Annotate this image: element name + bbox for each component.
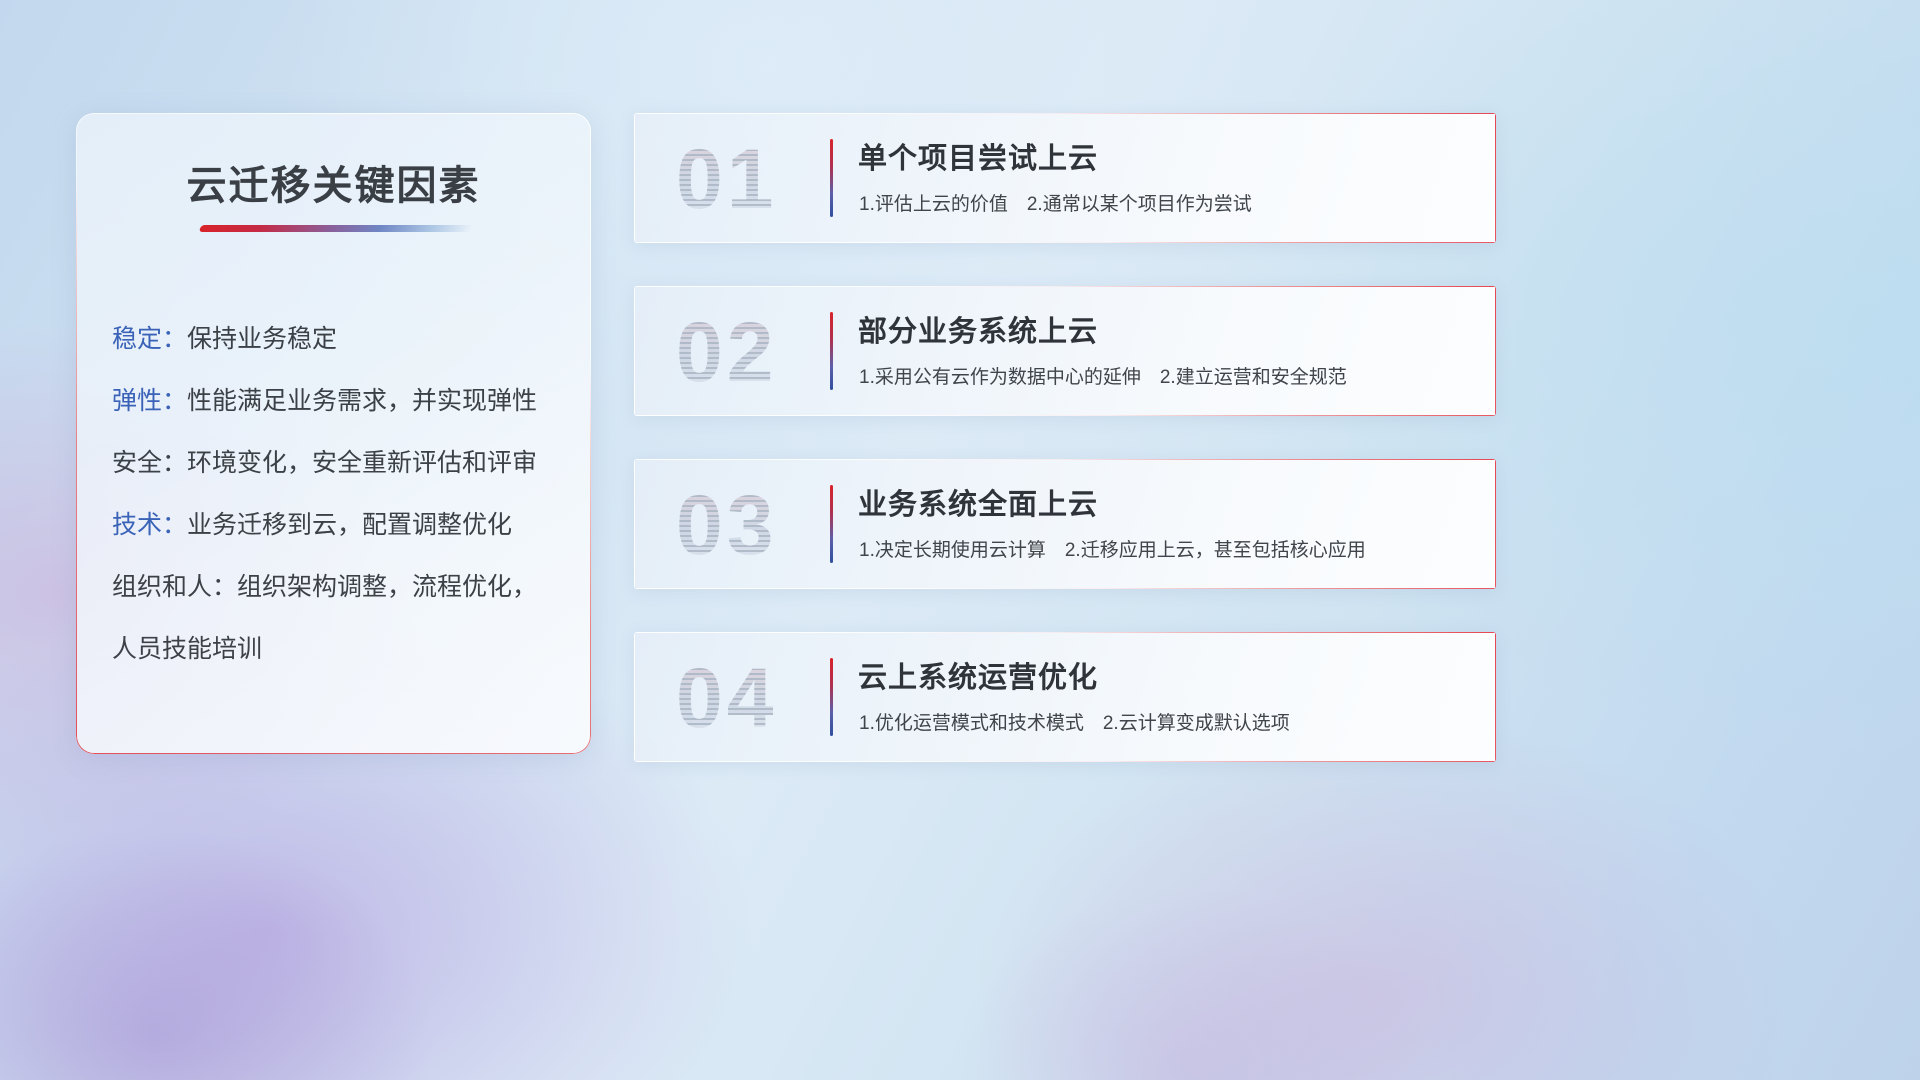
stage-number: 03 xyxy=(676,475,826,575)
factor-label: 技术： xyxy=(112,511,187,539)
stage-number: 01 xyxy=(676,129,826,229)
factor-label: 组织和人： xyxy=(112,573,237,601)
factor-text: 业务迁移到云，配置调整优化 xyxy=(187,511,512,539)
factor-label: 稳定： xyxy=(112,325,187,353)
key-factors-panel: 云迁移关键因素 稳定：保持业务稳定 弹性：性能满足业务需求，并实现弹性 安全：环… xyxy=(76,113,591,754)
stage-description: 1.优化运营模式和技术模式 2.云计算变成默认选项 xyxy=(859,708,1290,735)
factor-text: 人员技能培训 xyxy=(112,635,262,663)
factor-label: 安全： xyxy=(112,449,187,477)
accent-bar xyxy=(830,139,833,217)
stage-card-list: 01 单个项目尝试上云 1.评估上云的价值 2.通常以某个项目作为尝试 02 部… xyxy=(634,113,1496,805)
factor-text: 环境变化，安全重新评估和评审 xyxy=(187,449,537,477)
page-title: 云迁移关键因素 xyxy=(76,153,591,211)
factor-text: 性能满足业务需求，并实现弹性 xyxy=(187,387,537,415)
stage-title: 部分业务系统上云 xyxy=(858,308,1098,350)
stage-title: 云上系统运营优化 xyxy=(858,654,1098,696)
list-item: 弹性：性能满足业务需求，并实现弹性 xyxy=(112,370,573,432)
stage-card-02[interactable]: 02 部分业务系统上云 1.采用公有云作为数据中心的延伸 2.建立运营和安全规范 xyxy=(634,286,1496,416)
stage-card-03[interactable]: 03 业务系统全面上云 1.决定长期使用云计算 2.迁移应用上云，甚至包括核心应… xyxy=(634,459,1496,589)
list-item: 人员技能培训 xyxy=(112,618,573,680)
accent-bar xyxy=(830,658,833,736)
stage-card-01[interactable]: 01 单个项目尝试上云 1.评估上云的价值 2.通常以某个项目作为尝试 xyxy=(634,113,1496,243)
stage-number: 04 xyxy=(676,648,826,748)
list-item: 安全：环境变化，安全重新评估和评审 xyxy=(112,432,573,494)
factor-text: 组织架构调整，流程优化， xyxy=(237,573,537,601)
accent-bar xyxy=(830,312,833,390)
factor-text: 保持业务稳定 xyxy=(187,325,337,353)
stage-title: 业务系统全面上云 xyxy=(858,481,1098,523)
stage-description: 1.决定长期使用云计算 2.迁移应用上云，甚至包括核心应用 xyxy=(859,535,1366,562)
stage-description: 1.采用公有云作为数据中心的延伸 2.建立运营和安全规范 xyxy=(859,362,1347,389)
list-item: 组织和人：组织架构调整，流程优化， xyxy=(112,556,573,618)
stage-number: 02 xyxy=(676,302,826,402)
stage-description: 1.评估上云的价值 2.通常以某个项目作为尝试 xyxy=(859,189,1252,216)
list-item: 技术：业务迁移到云，配置调整优化 xyxy=(112,494,573,556)
accent-bar xyxy=(830,485,833,563)
list-item: 稳定：保持业务稳定 xyxy=(112,308,573,370)
factor-list: 稳定：保持业务稳定 弹性：性能满足业务需求，并实现弹性 安全：环境变化，安全重新… xyxy=(112,308,573,680)
title-underline-rule xyxy=(199,225,474,232)
stage-title: 单个项目尝试上云 xyxy=(858,135,1098,177)
stage-card-04[interactable]: 04 云上系统运营优化 1.优化运营模式和技术模式 2.云计算变成默认选项 xyxy=(634,632,1496,762)
factor-label: 弹性： xyxy=(112,387,187,415)
